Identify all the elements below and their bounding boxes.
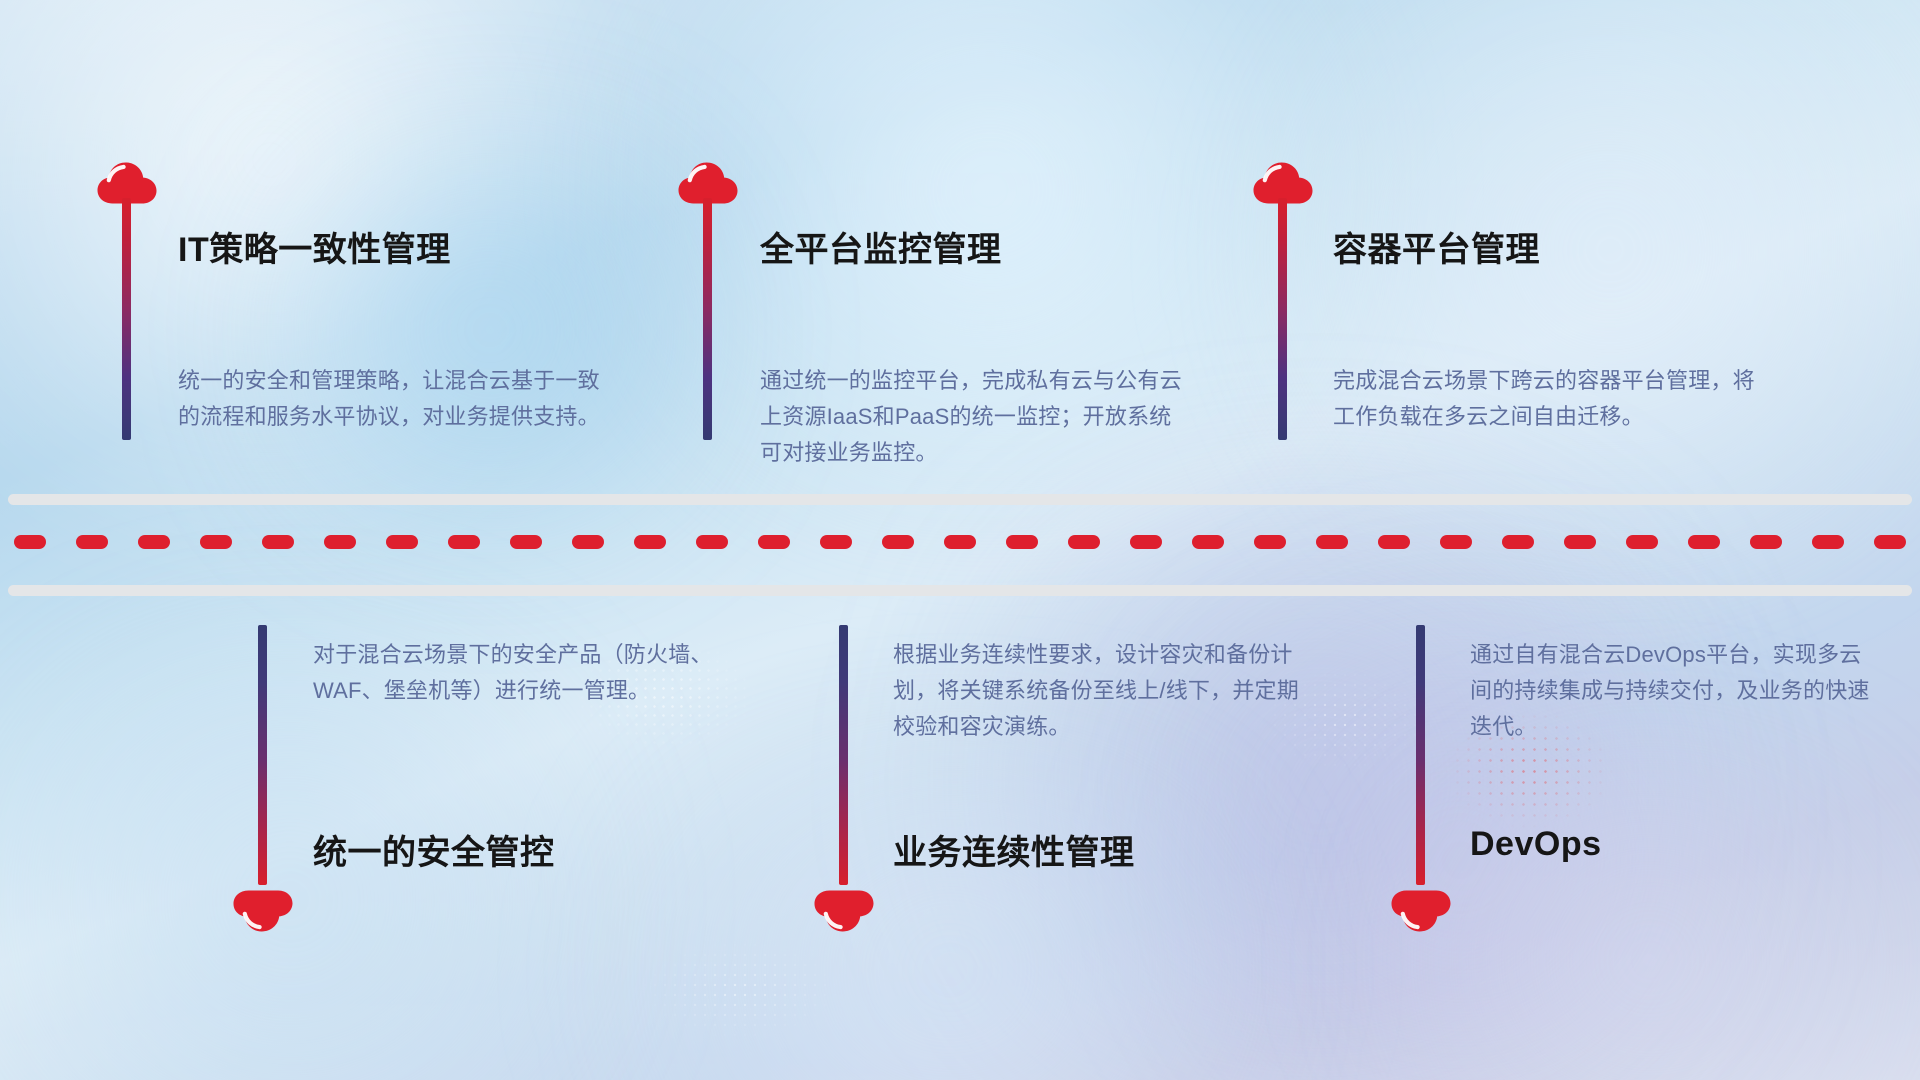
road-dash bbox=[1006, 535, 1038, 549]
road-edge-top-line bbox=[8, 494, 1912, 505]
road-dash bbox=[386, 535, 418, 549]
road-dash bbox=[14, 535, 46, 549]
top-item-1-body: 统一的安全和管理策略，让混合云基于一致的流程和服务水平协议，对业务提供支持。 bbox=[178, 363, 608, 435]
road-dash bbox=[882, 535, 914, 549]
road-dash bbox=[944, 535, 976, 549]
bottom-item-3-body: 通过自有混合云DevOps平台，实现多云间的持续集成与持续交付，及业务的快速迭代… bbox=[1470, 637, 1882, 745]
road-center-dashed-line bbox=[0, 535, 1920, 549]
road-dash bbox=[138, 535, 170, 549]
pin-stem bbox=[122, 198, 131, 440]
bottom-item-1-body: 对于混合云场景下的安全产品（防火墙、WAF、堡垒机等）进行统一管理。 bbox=[313, 637, 733, 709]
road-dash bbox=[634, 535, 666, 549]
road-dash bbox=[448, 535, 480, 549]
cloud-icon bbox=[232, 890, 294, 934]
road-dash bbox=[1502, 535, 1534, 549]
road-dash bbox=[820, 535, 852, 549]
top-item-1-heading: IT策略一致性管理 bbox=[178, 222, 451, 271]
road-dash bbox=[1316, 535, 1348, 549]
road-dash bbox=[76, 535, 108, 549]
road-dash bbox=[1068, 535, 1100, 549]
cloud-icon bbox=[1390, 890, 1452, 934]
road-dash bbox=[1688, 535, 1720, 549]
road-dash bbox=[1750, 535, 1782, 549]
cloud-icon bbox=[813, 890, 875, 934]
road-dash bbox=[510, 535, 542, 549]
road-dash bbox=[696, 535, 728, 549]
road-dash bbox=[1378, 535, 1410, 549]
road-dash bbox=[1254, 535, 1286, 549]
road-dash bbox=[572, 535, 604, 549]
road-edge-bottom-line bbox=[8, 585, 1912, 596]
road-dash bbox=[1440, 535, 1472, 549]
road-dash bbox=[200, 535, 232, 549]
road-dash bbox=[1874, 535, 1906, 549]
top-item-2-body: 通过统一的监控平台，完成私有云与公有云上资源IaaS和PaaS的统一监控；开放系… bbox=[760, 363, 1192, 471]
bottom-item-2-body: 根据业务连续性要求，设计容灾和备份计划，将关键系统备份至线上/线下，并定期校验和… bbox=[893, 637, 1317, 745]
pin-stem bbox=[1278, 198, 1287, 440]
road-dash bbox=[1626, 535, 1658, 549]
bottom-item-3-heading: DevOps bbox=[1470, 825, 1602, 864]
top-item-3-heading: 容器平台管理 bbox=[1333, 222, 1540, 271]
pin-stem bbox=[703, 198, 712, 440]
pin-stem bbox=[1416, 625, 1425, 885]
road-dash bbox=[758, 535, 790, 549]
road-dash bbox=[1192, 535, 1224, 549]
bottom-item-2-heading: 业务连续性管理 bbox=[893, 825, 1135, 874]
road-divider bbox=[0, 480, 1920, 600]
pin-stem bbox=[839, 625, 848, 885]
road-dash bbox=[1130, 535, 1162, 549]
top-item-2-heading: 全平台监控管理 bbox=[760, 222, 1002, 271]
road-dash bbox=[1812, 535, 1844, 549]
road-dash bbox=[324, 535, 356, 549]
bottom-item-1-heading: 统一的安全管控 bbox=[313, 825, 555, 874]
pin-stem bbox=[258, 625, 267, 885]
top-item-3-body: 完成混合云场景下跨云的容器平台管理，将工作负载在多云之间自由迁移。 bbox=[1333, 363, 1757, 435]
road-dash bbox=[1564, 535, 1596, 549]
road-dash bbox=[262, 535, 294, 549]
